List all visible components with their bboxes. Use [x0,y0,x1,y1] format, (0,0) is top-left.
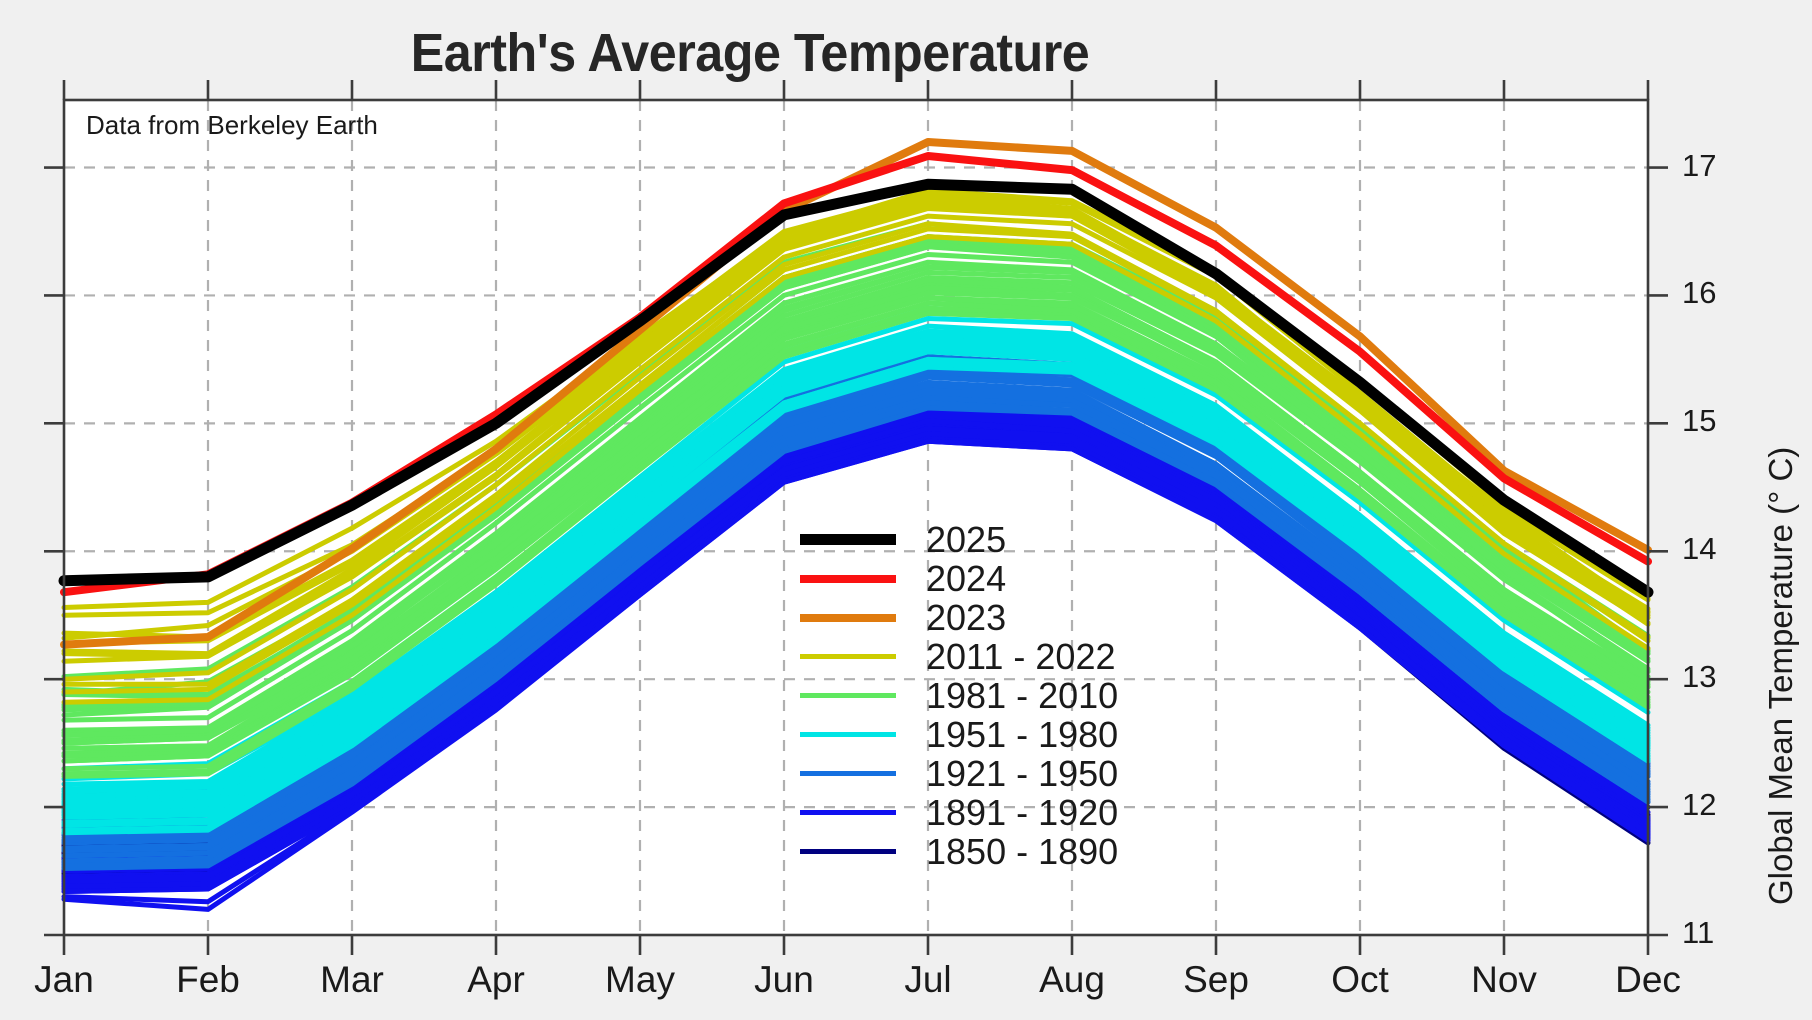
data-source-annotation: Data from Berkeley Earth [86,110,378,141]
legend-item-1921-1950[interactable]: 1921 - 1950 [800,754,1118,793]
legend-item-label: 1891 - 1920 [926,795,1118,831]
legend-item-label: 2011 - 2022 [926,639,1116,675]
x-tick-label: Sep [1146,959,1286,1001]
legend-item-label: 2025 [926,522,1006,558]
y-tick-label: 17 [1682,148,1716,184]
x-tick-label: Jun [714,959,854,1001]
x-tick-label: Jan [0,959,134,1001]
y-tick-label: 13 [1682,659,1716,695]
legend-item-label: 2023 [926,600,1006,636]
legend-item-2023[interactable]: 2023 [800,598,1118,637]
legend-item-label: 1981 - 2010 [926,678,1118,714]
x-tick-label: Nov [1434,959,1574,1001]
legend-swatch-icon [800,810,896,815]
x-tick-label: Aug [1002,959,1142,1001]
legend-swatch-icon [800,771,896,776]
chart-legend: 2025202420232011 - 20221981 - 20101951 -… [800,520,1118,871]
legend-item-label: 1951 - 1980 [926,717,1118,753]
legend-swatch-icon [800,654,896,659]
legend-item-2024[interactable]: 2024 [800,559,1118,598]
legend-swatch-icon [800,614,896,622]
legend-swatch-icon [800,575,896,583]
legend-item-1951-1980[interactable]: 1951 - 1980 [800,715,1118,754]
x-tick-label: Apr [426,959,566,1001]
legend-item-1891-1920[interactable]: 1891 - 1920 [800,793,1118,832]
x-tick-label: Mar [282,959,422,1001]
legend-swatch-icon [800,732,896,737]
legend-item-1850-1890[interactable]: 1850 - 1890 [800,832,1118,871]
y-axis-title: Global Mean Temperature (° C) [1762,447,1800,905]
legend-item-2025[interactable]: 2025 [800,520,1118,559]
x-tick-label: Jul [858,959,998,1001]
legend-item-label: 1921 - 1950 [926,756,1118,792]
y-tick-label: 12 [1682,787,1716,823]
legend-item-label: 1850 - 1890 [926,834,1118,870]
y-tick-label: 14 [1682,531,1716,567]
x-tick-label: May [570,959,710,1001]
legend-item-label: 2024 [926,561,1006,597]
y-tick-label: 16 [1682,275,1716,311]
y-tick-label: 15 [1682,403,1716,439]
legend-swatch-icon [800,849,896,854]
legend-swatch-icon [800,693,896,698]
y-tick-label: 11 [1682,915,1714,951]
legend-item-1981-2010[interactable]: 1981 - 2010 [800,676,1118,715]
x-tick-label: Dec [1578,959,1718,1001]
legend-item-2011-2022[interactable]: 2011 - 2022 [800,637,1118,676]
x-tick-label: Feb [138,959,278,1001]
x-tick-label: Oct [1290,959,1430,1001]
legend-swatch-icon [800,534,896,545]
